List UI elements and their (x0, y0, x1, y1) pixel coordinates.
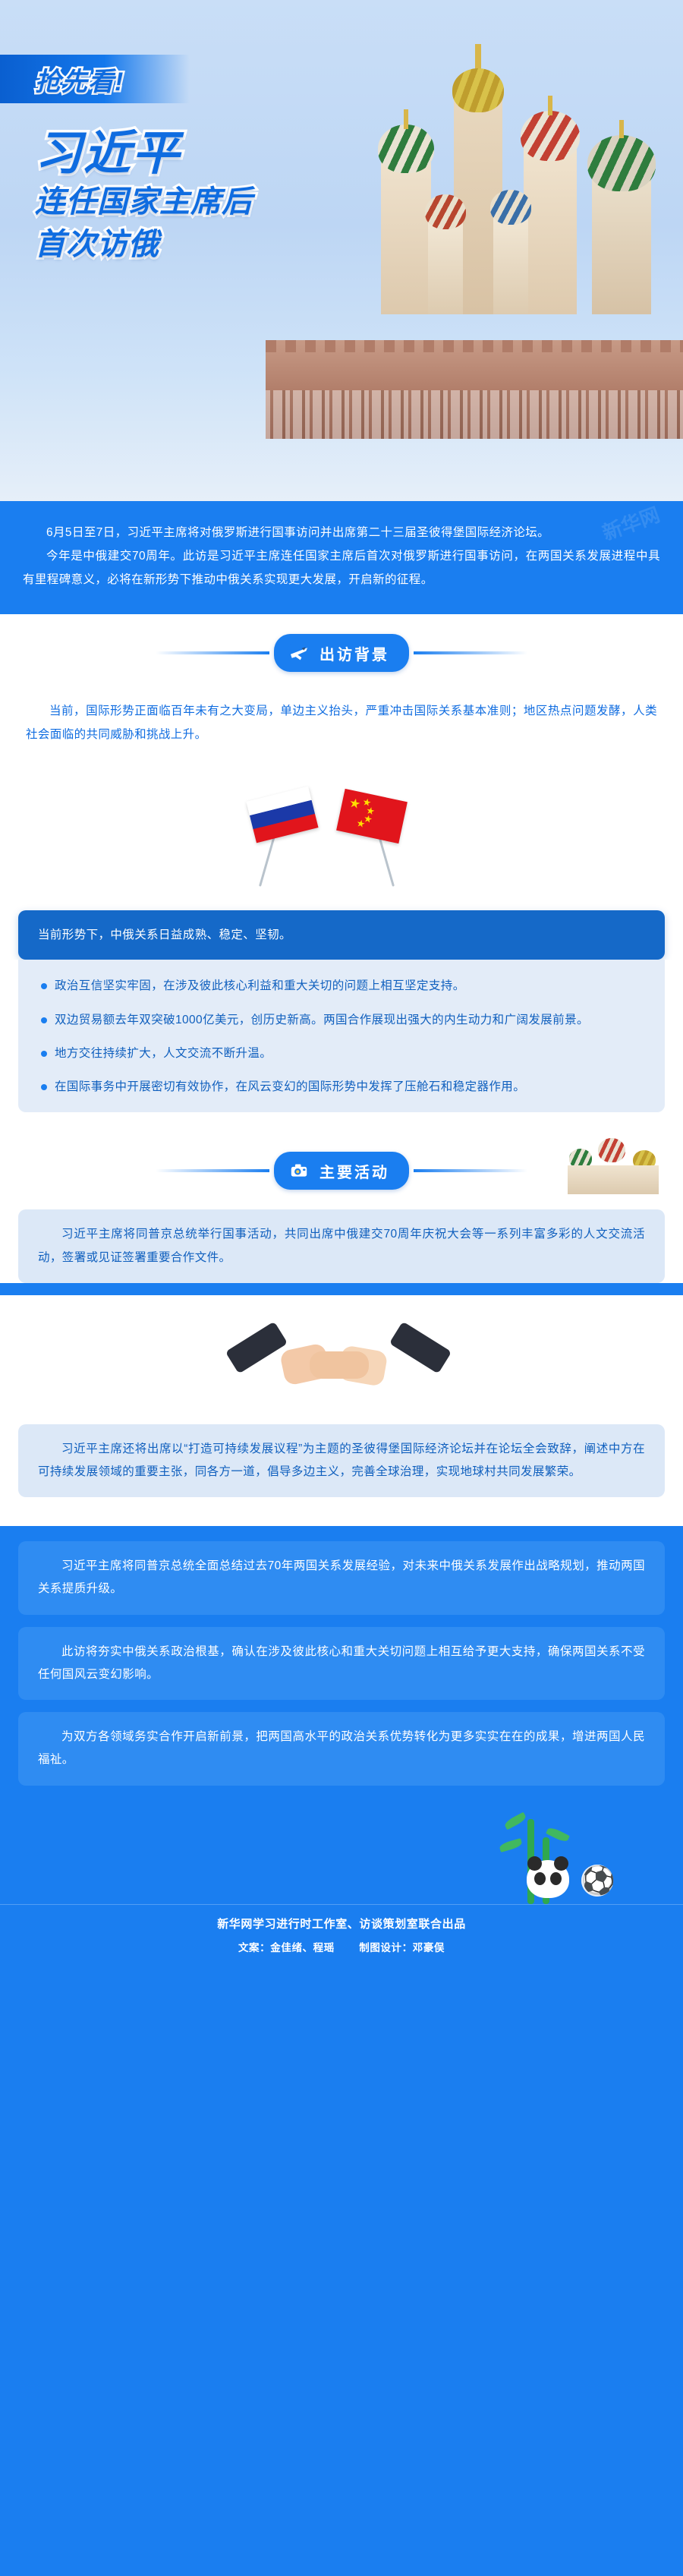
background-callout-wrap: 当前形势下，中俄关系日益成熟、稳定、坚韧。 (0, 898, 683, 960)
background-bullet-list: 政治互信坚实牢固，在涉及彼此核心利益和重大关切的问题上相互坚定支持。 双边贸易额… (18, 960, 665, 1112)
intro-paragraph-1: 6月5日至7日，习近平主席将对俄罗斯进行国事访问并出席第二十三届圣彼得堡国际经济… (23, 521, 660, 544)
cathedral-decoration-icon (560, 1132, 674, 1194)
credit-designer: 制图设计：邓豪俣 (359, 1942, 445, 1953)
handshake-illustration: 新华网 (0, 1295, 683, 1424)
list-item: 政治互信坚实牢固，在涉及彼此核心利益和重大关切的问题上相互坚定支持。 (38, 975, 645, 998)
list-item: 在国际事务中开展密切有效协作，在风云变幻的国际形势中发挥了压舱石和稳定器作用。 (38, 1076, 645, 1099)
closing-card-5: 为双方各领域务实合作开启新前景，把两国高水平的政治关系优势转化为更多实实在在的成… (18, 1712, 665, 1785)
section-label-activities: 主要活动 (319, 1160, 389, 1182)
footer: 新华网学习进行时工作室、访谈策划室联合出品 文案：金佳绪、程瑶 制图设计：邓豪俣 (0, 1904, 683, 1977)
activities-card-1: 习近平主席将同普京总统举行国事活动，共同出席中俄建交70周年庆祝大会等一系列丰富… (18, 1209, 665, 1282)
wall-arcade (266, 390, 683, 439)
page-title: 习近平 (35, 129, 253, 178)
watermark: 新华网 (568, 1316, 633, 1363)
credit-copywriter: 文案：金佳绪、程瑶 (238, 1942, 335, 1953)
rule-left (156, 1169, 269, 1172)
section-header-activities: 主要活动 (0, 1132, 683, 1203)
footer-credits: 文案：金佳绪、程瑶 制图设计：邓豪俣 (0, 1939, 683, 1954)
airplane-icon (286, 640, 312, 666)
panda-bamboo-illustration (0, 1805, 683, 1904)
hero-subtitle-line-1: 连任国家主席后 (35, 183, 253, 221)
hero-banner: 抢先看! 习近平 连任国家主席后 首次访俄 (0, 0, 683, 501)
kremlin-wall (266, 340, 683, 439)
section-header-background: 出访背景 (0, 614, 683, 686)
rule-right (414, 1169, 527, 1172)
list-item: 双边贸易额去年双突破1000亿美元，创历史新高。两国合作展现出强大的内生动力和广… (38, 1009, 645, 1032)
hero-title-block: 习近平 连任国家主席后 首次访俄 (35, 129, 253, 263)
closing-card-4: 此访将夯实中俄关系政治根基，确认在涉及彼此核心和重大关切问题上相互给予更大支持，… (18, 1627, 665, 1700)
section-badge-background: 出访背景 (274, 634, 409, 672)
background-intro-paragraph-wrap: 当前，国际形势正面临百年未有之大变局，单边主义抬头，严重冲击国际关系基本准则；地… (0, 686, 683, 754)
rule-left (156, 651, 269, 654)
handshake-grip (310, 1351, 369, 1379)
china-flag-icon: ★ ★ ★ ★ ★ (336, 789, 408, 843)
preview-badge-label: 抢先看! (35, 61, 124, 98)
closing-cards-band: 习近平主席将同普京总统全面总结过去70年两国关系发展经验，对未来中俄关系发展作出… (0, 1526, 683, 1805)
panda-icon (527, 1860, 569, 1898)
rule-right (414, 651, 527, 654)
footer-producer: 新华网学习进行时工作室、访谈策划室联合出品 (0, 1915, 683, 1931)
st-basils-cathedral-illustration (266, 14, 683, 439)
flags-illustration: ★ ★ ★ ★ ★ (0, 754, 683, 898)
closing-card-3: 习近平主席将同普京总统全面总结过去70年两国关系发展经验，对未来中俄关系发展作出… (18, 1541, 665, 1614)
background-callout: 当前形势下，中俄关系日益成熟、稳定、坚韧。 (18, 910, 665, 960)
sleeve-left (225, 1321, 288, 1373)
section-label-background: 出访背景 (319, 642, 389, 664)
bamboo-leaf (499, 1838, 523, 1852)
soccer-ball-icon (581, 1865, 613, 1897)
background-intro-paragraph: 当前，国际形势正面临百年未有之大变局，单边主义抬头，严重冲击国际关系基本准则；地… (26, 699, 657, 746)
russia-flag-icon (246, 787, 318, 843)
activities-card-2: 习近平主席还将出席以“打造可持续发展议程”为主题的圣彼得堡国际经济论坛并在论坛全… (18, 1424, 665, 1497)
camera-icon (286, 1158, 312, 1184)
infographic-page: 抢先看! 习近平 连任国家主席后 首次访俄 新华网 6月5日至7日，习近平主席将… (0, 0, 683, 1977)
preview-badge: 抢先看! (0, 55, 190, 103)
list-item: 地方交往持续扩大，人文交流不断升温。 (38, 1042, 645, 1065)
intro-block: 新华网 6月5日至7日，习近平主席将对俄罗斯进行国事访问并出席第二十三届圣彼得堡… (0, 501, 683, 614)
hero-subtitle-line-2: 首次访俄 (35, 225, 253, 263)
section-badge-activities: 主要活动 (274, 1152, 409, 1190)
sleeve-right (389, 1321, 452, 1373)
bamboo-leaf (503, 1811, 527, 1830)
intro-paragraph-2: 今年是中俄建交70周年。此访是习近平主席连任国家主席后首次对俄罗斯进行国事访问，… (23, 544, 660, 591)
